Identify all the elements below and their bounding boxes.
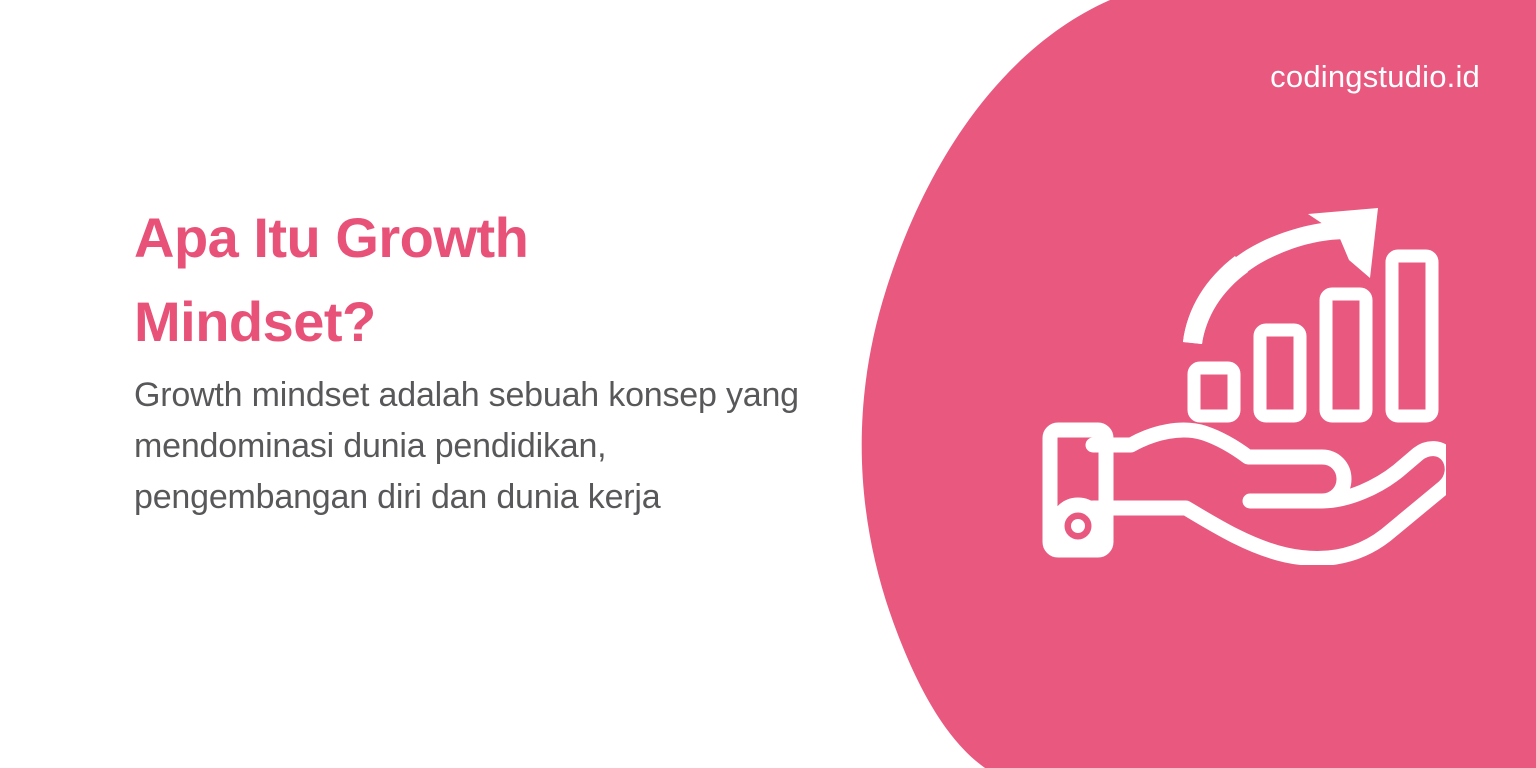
hand-holding-growth-chart-icon [1036, 190, 1446, 565]
bar-1 [1194, 368, 1234, 416]
page-title: Apa Itu Growth Mindset? [134, 196, 654, 364]
open-hand-icon [1093, 430, 1446, 558]
bar-4 [1392, 256, 1432, 416]
text-column: Apa Itu Growth Mindset? Growth mindset a… [134, 196, 834, 523]
brand-wordmark: codingstudio.id [1270, 58, 1480, 96]
bar-3 [1326, 294, 1366, 416]
page-subtitle: Growth mindset adalah sebuah konsep yang… [134, 364, 824, 523]
bar-2 [1260, 330, 1300, 416]
banner-canvas: Apa Itu Growth Mindset? Growth mindset a… [0, 0, 1536, 768]
